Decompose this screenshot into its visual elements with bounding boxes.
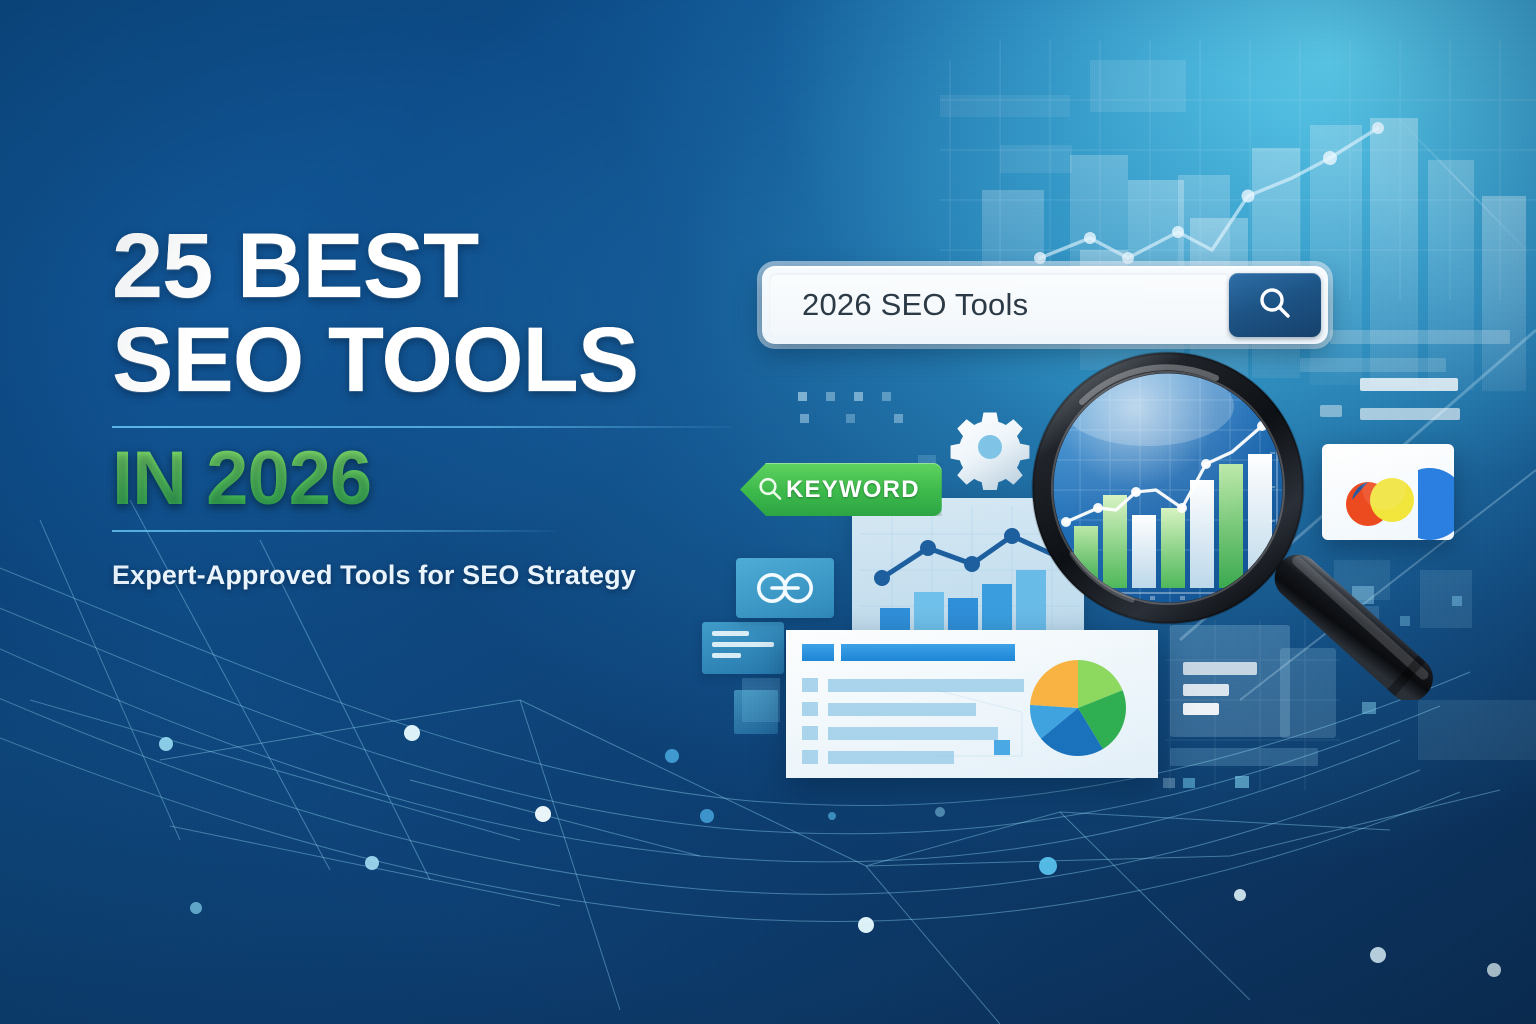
search-bar[interactable]: 2026 SEO Tools xyxy=(762,266,1328,344)
small-rect-tile xyxy=(734,690,778,734)
search-input-value: 2026 SEO Tools xyxy=(802,287,1028,323)
divider-top xyxy=(112,426,732,428)
headline-line-1: 25 BEST xyxy=(112,222,732,310)
subtitle: Expert-Approved Tools for SEO Strategy xyxy=(112,560,732,591)
keyword-tag-label: KEYWORD xyxy=(786,476,920,504)
gear-icon xyxy=(950,410,1030,495)
magnifier-icon xyxy=(756,475,786,512)
hero-text-block: 25 BEST SEO TOOLS IN 2026 Expert-Approve… xyxy=(112,222,732,591)
headline-line-2: SEO TOOLS xyxy=(112,316,732,404)
magnifier-handle xyxy=(1266,545,1442,700)
search-icon xyxy=(1255,284,1295,327)
search-submit-button[interactable] xyxy=(1229,273,1321,337)
divider-bottom xyxy=(112,530,558,532)
hero-banner: 25 BEST SEO TOOLS IN 2026 Expert-Approve… xyxy=(0,0,1536,1024)
magnifier-icon xyxy=(1020,340,1490,705)
year-heading: IN 2026 xyxy=(112,442,732,516)
search-input[interactable]: 2026 SEO Tools xyxy=(769,273,1229,337)
keyword-tag[interactable]: KEYWORD xyxy=(740,463,942,516)
link-chain-icon xyxy=(736,558,834,618)
text-lines-tile xyxy=(702,622,784,674)
